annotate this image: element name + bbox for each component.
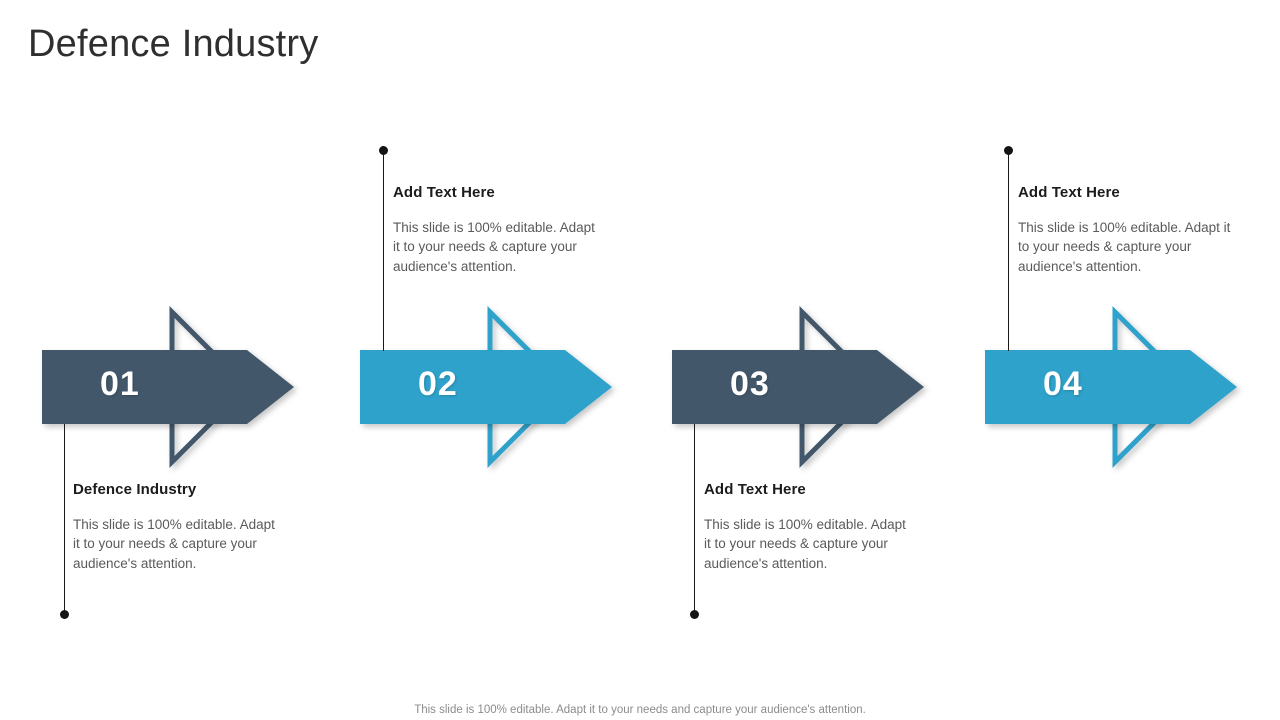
connector-dot-01 (60, 610, 69, 619)
arrow-group-01[interactable]: 01 (42, 300, 342, 475)
step-body-04: This slide is 100% editable. Adapt it to… (1018, 218, 1233, 276)
slide-canvas: Defence Industry 01 Defence Industry Thi… (0, 0, 1280, 720)
connector-dot-03 (690, 610, 699, 619)
step-heading-02: Add Text Here (393, 183, 598, 203)
footer-note: This slide is 100% editable. Adapt it to… (0, 702, 1280, 718)
connector-dot-02 (379, 146, 388, 155)
arrow-shape-03 (672, 300, 972, 475)
step-heading-01: Defence Industry (73, 480, 278, 500)
arrow-group-02[interactable]: 02 (360, 300, 660, 475)
connector-dot-04 (1004, 146, 1013, 155)
text-block-02: Add Text Here This slide is 100% editabl… (393, 183, 598, 276)
text-block-03: Add Text Here This slide is 100% editabl… (704, 480, 909, 573)
connector-line-02 (383, 151, 384, 351)
arrow-shape-02 (360, 300, 660, 475)
arrow-shape-01 (42, 300, 342, 475)
step-heading-03: Add Text Here (704, 480, 909, 500)
step-body-01: This slide is 100% editable. Adapt it to… (73, 515, 278, 573)
arrow-group-03[interactable]: 03 (672, 300, 972, 475)
step-body-02: This slide is 100% editable. Adapt it to… (393, 218, 598, 276)
arrow-shape-04 (985, 300, 1280, 475)
text-block-04: Add Text Here This slide is 100% editabl… (1018, 183, 1233, 276)
connector-line-01 (64, 424, 65, 614)
step-number-03: 03 (730, 362, 770, 406)
step-heading-04: Add Text Here (1018, 183, 1233, 203)
text-block-01: Defence Industry This slide is 100% edit… (73, 480, 278, 573)
connector-line-03 (694, 424, 695, 614)
arrow-group-04[interactable]: 04 (985, 300, 1280, 475)
step-number-02: 02 (418, 362, 458, 406)
step-body-03: This slide is 100% editable. Adapt it to… (704, 515, 909, 573)
connector-line-04 (1008, 151, 1009, 351)
step-number-04: 04 (1043, 362, 1083, 406)
page-title: Defence Industry (28, 20, 318, 68)
step-number-01: 01 (100, 362, 140, 406)
